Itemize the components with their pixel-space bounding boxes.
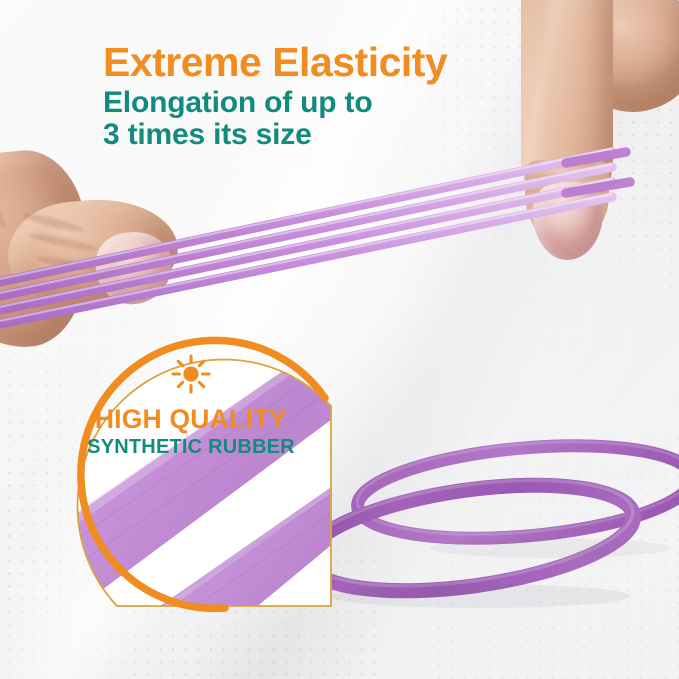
sun-icon — [168, 352, 214, 396]
right-hand-fingernail — [533, 182, 603, 260]
badge-title: HIGH QUALITY — [57, 406, 325, 433]
headline-subtitle-line1: Elongation of up to — [103, 87, 573, 119]
high-quality-badge: HIGH QUALITY SYNTHETIC RUBBER — [57, 318, 347, 614]
skin-crease — [525, 162, 605, 172]
headline-block: Extreme Elasticity Elongation of up to 3… — [103, 42, 573, 151]
page-title: Extreme Elasticity — [103, 42, 573, 82]
badge-subtitle: SYNTHETIC RUBBER — [57, 437, 325, 457]
headline-subtitle-line2: 3 times its size — [103, 119, 573, 151]
product-feature-image: Extreme Elasticity Elongation of up to 3… — [0, 0, 679, 679]
relaxed-rubber-band-loops — [300, 420, 679, 650]
badge-content: HIGH QUALITY SYNTHETIC RUBBER — [57, 352, 325, 457]
headline-subtitle: Elongation of up to 3 times its size — [103, 87, 573, 151]
